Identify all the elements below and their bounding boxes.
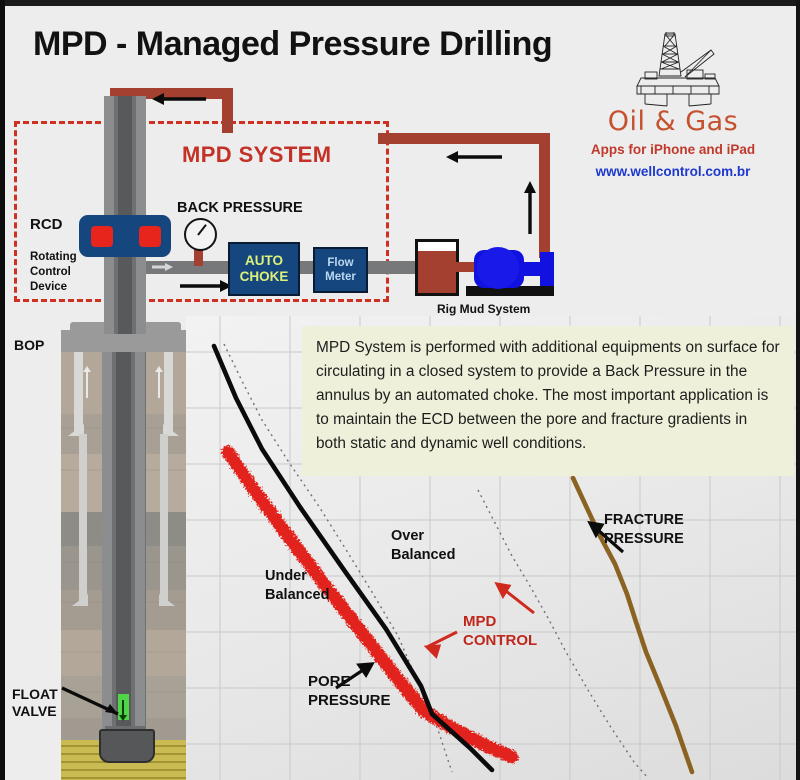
drill-pipe-wall-left	[102, 352, 112, 732]
float-valve-pointer	[60, 684, 130, 720]
flow-arrow-top-right	[442, 150, 504, 164]
label-fracture-pressure: FRACTURE PRESSURE	[604, 511, 684, 549]
drill-bit-icon	[99, 729, 155, 763]
diagram-canvas: FLOAT VALVE BOP MPD System is performed …	[0, 0, 800, 780]
mpd-system-label: MPD SYSTEM	[182, 142, 331, 168]
right-letterbox-bar	[796, 0, 800, 780]
label-under-balanced: Under Balanced	[265, 567, 329, 605]
top-letterbox-bar	[0, 0, 800, 6]
label-over-balanced: Over Balanced	[391, 527, 455, 565]
casing-string-upper-left	[74, 352, 83, 434]
mud-pump-housing	[477, 247, 519, 289]
label-pore-pressure: PORE PRESSURE	[308, 672, 391, 710]
description-callout: MPD System is performed with additional …	[302, 326, 794, 476]
flowline-inner-arrow	[152, 263, 174, 271]
casing-string-upper-right	[164, 352, 173, 434]
bop-label: BOP	[14, 337, 44, 353]
mud-pump-discharge	[540, 252, 554, 286]
drill-pipe-wall-right	[135, 352, 145, 732]
brand-logo-block[interactable]: Oil & Gas Apps for iPhone and iPad www.w…	[573, 32, 773, 179]
annulus-flow-arrowhead-right	[155, 366, 163, 372]
brand-url-link[interactable]: www.wellcontrol.com.br	[573, 164, 773, 179]
rcd-seal-left	[91, 226, 113, 247]
annulus-flow-arrowhead-left	[83, 366, 91, 372]
offshore-rig-icon	[615, 32, 731, 110]
pressure-gauge-icon	[184, 218, 217, 251]
brand-tagline: Apps for iPhone and iPad	[573, 142, 773, 157]
return-pipe-top-down	[222, 88, 233, 133]
rcd-abbrev-label: RCD	[30, 216, 63, 233]
brand-name: Oil & Gas	[573, 106, 773, 137]
flow-meter-component[interactable]: Flow Meter	[313, 247, 368, 293]
casing-string-lower-right	[160, 434, 168, 604]
mud-tank-fill	[418, 251, 456, 293]
drill-pipe-bore	[116, 352, 131, 732]
label-mpd-control: MPD CONTROL	[463, 612, 537, 650]
rig-mud-system-label: Rig Mud System	[437, 302, 530, 316]
annulus-flow-arrow-left	[86, 370, 88, 398]
supply-pipe-riser	[539, 133, 550, 258]
casing-string-lower-left	[79, 434, 87, 604]
auto-choke-component[interactable]: AUTO CHOKE	[228, 242, 300, 296]
float-valve-label: FLOAT VALVE	[12, 686, 58, 720]
supply-pipe-top-horizontal	[378, 133, 550, 144]
page-title: MPD - Managed Pressure Drilling	[33, 25, 552, 64]
annulus-flow-arrow-right	[158, 370, 160, 398]
flow-arrow-riser-up	[523, 178, 537, 236]
left-letterbox-bar	[0, 0, 5, 780]
back-pressure-label: BACK PRESSURE	[177, 200, 303, 216]
rcd-description-label: Rotating Control Device	[30, 250, 77, 295]
flow-arrow-top-left	[148, 92, 208, 106]
rcd-seal-right	[139, 226, 161, 247]
